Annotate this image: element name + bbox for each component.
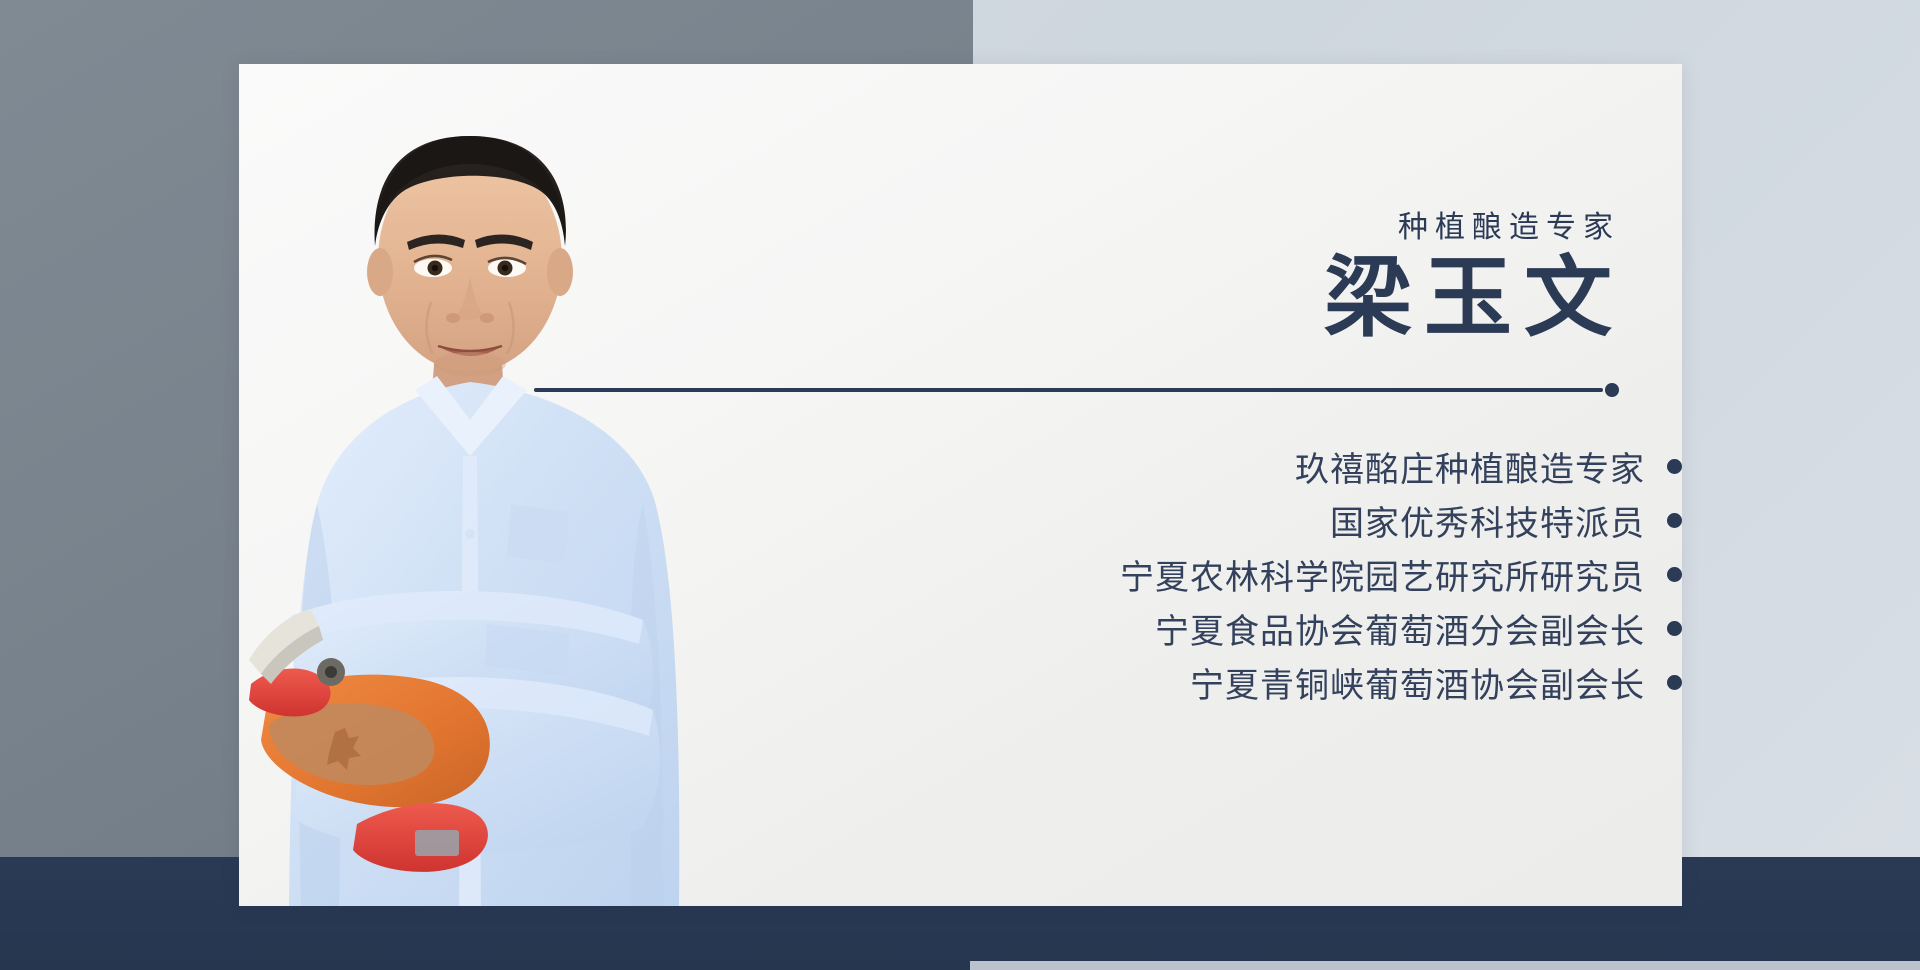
divider-end-dot (1605, 383, 1619, 397)
credential-label: 玖禧酩庄种植酿造专家 (1295, 442, 1645, 491)
list-item: 国家优秀科技特派员 (882, 493, 1682, 547)
credential-label: 宁夏农林科学院园艺研究所研究员 (1120, 550, 1645, 599)
list-item: 宁夏食品协会葡萄酒分会副会长 (882, 601, 1682, 655)
credential-label: 宁夏食品协会葡萄酒分会副会长 (1155, 604, 1645, 653)
profile-eyebrow: 种植酿造专家 (1398, 202, 1620, 246)
portrait-illustration (239, 64, 859, 906)
bullet-dot-icon (1667, 621, 1682, 636)
list-item: 玖禧酩庄种植酿造专家 (882, 439, 1682, 493)
divider (534, 382, 1619, 396)
credentials-list: 玖禧酩庄种植酿造专家 国家优秀科技特派员 宁夏农林科学院园艺研究所研究员 宁夏食… (882, 439, 1682, 709)
background-bottom-light-strip (970, 961, 1920, 970)
list-item: 宁夏青铜峡葡萄酒协会副会长 (882, 655, 1682, 709)
bullet-dot-icon (1667, 459, 1682, 474)
profile-card: 种植酿造专家 梁玉文 玖禧酩庄种植酿造专家 国家优秀科技特派员 宁夏农林科学院园… (239, 64, 1682, 906)
credential-label: 宁夏青铜峡葡萄酒协会副会长 (1190, 658, 1645, 707)
credential-label: 国家优秀科技特派员 (1330, 496, 1645, 545)
poster-stage: 种植酿造专家 梁玉文 玖禧酩庄种植酿造专家 国家优秀科技特派员 宁夏农林科学院园… (0, 0, 1920, 970)
portrait-photo (239, 64, 859, 906)
divider-line (534, 388, 1603, 392)
bullet-dot-icon (1667, 675, 1682, 690)
profile-name: 梁玉文 (1324, 249, 1624, 350)
bullet-dot-icon (1667, 513, 1682, 528)
bullet-dot-icon (1667, 567, 1682, 582)
list-item: 宁夏农林科学院园艺研究所研究员 (882, 547, 1682, 601)
